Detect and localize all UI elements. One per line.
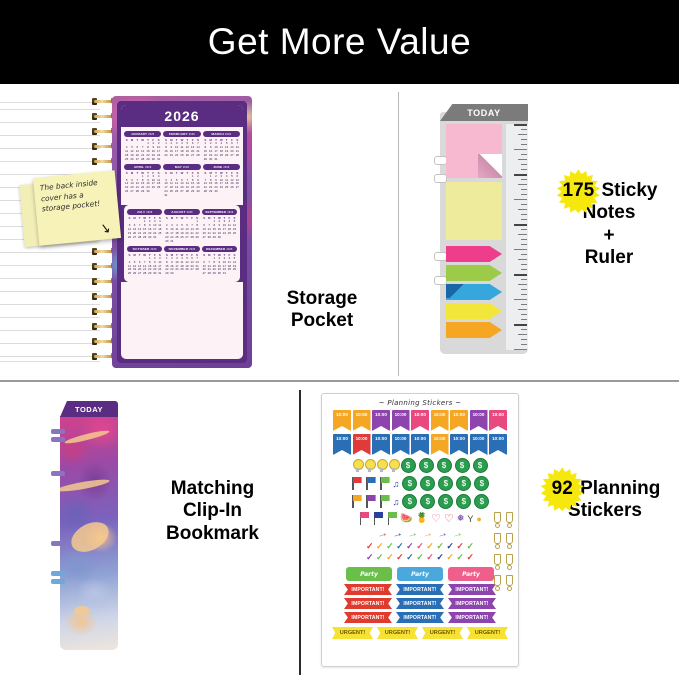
paper-line [0,330,100,331]
exclamation-pair [493,512,512,527]
paper-line [0,148,100,149]
pennant-flag-icon [365,495,376,508]
sticker-arrow-row: →→→→→→ [322,529,518,540]
sticker-time-banner: 10:00 [372,410,390,431]
sticker-important-row-3: IMPORTANT!IMPORTANT!IMPORTANT! [322,612,518,623]
dollar-coin-icon: $ [419,458,434,473]
clip-tab-icon [51,429,65,434]
ruler-tick [521,169,527,170]
exclamation-mark-icon [493,533,500,548]
calendar-month-name: OCTOBER 2026 [127,246,162,252]
sticker-banner-row-1: 10:0010:0010:0010:0010:0010:0010:0010:00… [322,410,518,431]
panel-storage-pocket: 2026 JANUARY 2026SMTWTFS1234567891011121… [0,88,398,378]
calendar-month: SEPTEMBER 2026SMTWTFS1234567891011121314… [202,209,237,244]
checkmark-icon: ✓ [376,542,384,551]
sticker-exclamation-column [493,512,512,590]
binder-ring-icon [434,276,447,285]
calendar-month-name: FEBRUARY 2026 [163,131,200,137]
exclamation-mark-icon [505,533,512,548]
lightbulb-icon [377,459,386,472]
sticker-time-label: 10:00 [434,412,446,431]
calendar-month: JANUARY 2026SMTWTFS123456789101112131415… [124,131,161,162]
calendar-days: 1234567891011121314151617181920212223242… [127,257,162,277]
pineapple-icon: 🍍 [416,513,428,524]
clip-tab-icon [51,541,65,546]
flag-corner-icon [446,284,464,298]
bookmark-marble-design [60,416,118,650]
dollar-coin-icon: $ [455,458,470,473]
paper-line [0,343,100,344]
lightbulb-icon [365,459,374,472]
sticker-sheet-title: ~ Planning Stickers ~ [322,394,518,407]
dollar-coin-icon: $ [402,494,417,509]
horizontal-divider [0,380,679,382]
sticker-flag-coin-row-2: ♫$$$$$ [322,476,518,491]
calendar-months-top: JANUARY 2026SMTWTFS123456789101112131415… [121,127,243,202]
calendar-month-name: SEPTEMBER 2026 [202,209,237,215]
calendar-card: 2026 JANUARY 2026SMTWTFS1234567891011121… [121,105,243,359]
checkmark-icon: ✓ [456,542,464,551]
sticky-note-callout: The back inside cover has a storage pock… [22,174,118,248]
important-label: IMPORTANT! [344,598,392,609]
calendar-year-header: 2026 [121,105,243,127]
curved-arrow-icon: → [391,528,405,542]
ruler-tick [514,199,527,200]
curved-arrow-icon: → [436,528,450,542]
party-label: Party [346,567,392,581]
sticker-party-row: PartyPartyParty [322,567,518,581]
checkmark-icon: ✓ [416,553,424,562]
ruler-tick [521,314,527,315]
sticker-important-row-2: IMPORTANT!IMPORTANT!IMPORTANT! [322,598,518,609]
ruler-tick [514,349,527,350]
caption-line-1: Matching [130,478,295,500]
marble-vein [60,477,110,493]
calendar-month-name: AUGUST 2026 [164,209,199,215]
planner-cover: 2026 JANUARY 2026SMTWTFS1234567891011121… [112,96,252,368]
calendar-days: 1234567891011121314151617181920212223242… [203,142,240,162]
marble-vein [64,429,110,446]
curved-arrow-icon: → [451,528,465,542]
caption-sticky-notes: 175 Sticky Notes + Ruler [539,180,679,270]
calendar-month-name: MARCH 2026 [203,131,240,137]
calendar-month: FEBRUARY 2026SMTWTFS12345678910111213141… [163,131,200,162]
caption-line-1: 92 Planning [525,478,679,500]
calendar-month-name: JANUARY 2026 [124,131,161,137]
calendar-days: 1234567891011121314151617181920212223242… [163,175,200,199]
ruler-tick [521,289,527,290]
paper-line [0,109,100,110]
checkmark-icon: ✓ [466,542,474,551]
party-label: Party [397,567,443,581]
dollar-coin-icon: $ [437,458,452,473]
pennant-flag-icon [351,477,362,490]
ruler-tick [521,279,527,280]
bookmark-today-tab: TODAY [60,401,118,417]
important-label: IMPORTANT! [448,598,496,609]
checkmark-icon: ✓ [366,542,374,551]
sticker-check-row-1: ✓✓✓✓✓✓✓✓✓✓✓ [322,542,518,551]
paper-line [0,122,100,123]
paper-line [0,265,100,266]
ruler-tick [518,284,527,285]
ruler-tick [514,149,527,150]
important-label: IMPORTANT! [344,584,392,595]
ruler-tick [521,144,527,145]
dollar-coin-icon: $ [473,458,488,473]
curved-arrow-icon: → [376,528,390,542]
ruler-tick [521,244,527,245]
exclamation-pair [493,554,512,569]
ruler-tick [521,339,527,340]
calendar-month-name: APRIL 2026 [124,164,161,170]
important-label: IMPORTANT! [344,612,392,623]
ruler-tick [514,224,527,226]
page-title: Get More Value [208,21,471,63]
calendar-days: 1234567891011121314151617181920212223242… [164,257,199,277]
calendar-month: NOVEMBER 2026SMTWTFS12345678910111213141… [164,246,199,277]
caption-line-3: + [539,225,679,247]
sticker-check-row-2: ✓✓✓✓✓✓✓✓✓✓✓ [322,553,518,562]
snowflake-icon: ❅ [457,513,465,524]
sticker-time-banner: 10:00 [431,410,449,431]
dollar-coin-icon: $ [474,476,489,491]
ruler-tick [518,334,527,335]
sticker-time-label: 10:00 [492,436,504,455]
urgent-label: URGENT! [467,627,508,639]
sticker-time-label: 10:00 [395,412,407,431]
calendar-days: 1234567891011121314151617181920212223242… [202,220,237,240]
ruler-tick [521,219,527,220]
ruler-tick [521,294,527,295]
caption-line-1: 175 Sticky [539,180,679,202]
calendar-month-name: JULY 2026 [127,209,162,215]
calendar-days: 1234567891011121314151617181920212223242… [163,142,200,158]
urgent-label: URGENT! [422,627,463,639]
music-note-icon: ♫ [393,479,400,489]
calendar-days: 1234567891011121314151617181920212223242… [203,175,240,195]
important-label: IMPORTANT! [396,598,444,609]
ruler-tick [521,179,527,180]
ruler-tick [521,319,527,320]
ruler-tick [521,204,527,205]
exclamation-mark-icon [505,575,512,590]
sticker-sheet: ~ Planning Stickers ~ 10:0010:0010:0010:… [321,393,519,667]
dollar-coin-icon: $ [420,494,435,509]
clip-in-bookmark: TODAY [60,401,118,651]
sticker-time-banner: 10:00 [333,410,351,431]
sticker-time-banner: 10:00 [489,410,507,431]
calendar-month-name: JUNE 2026 [203,164,240,170]
ruler-tick [521,194,527,195]
exclamation-mark-icon [493,575,500,590]
calendar-days: 1234567891011121314151617181920212223242… [124,175,161,195]
gold-coin-icon: ● [476,514,481,524]
dollar-coin-icon: $ [438,494,453,509]
calendar-lower-block: JULY 2026SMTWTFS123456789101112131415161… [121,205,243,282]
paper-line [0,252,100,253]
ruler-tick [521,129,527,130]
dollar-coin-icon: $ [456,494,471,509]
calendar-days: 1234567891011121314151617181920212223242… [164,220,199,244]
sticker-time-label: 10:00 [336,436,348,455]
sticker-time-banner: 10:00 [333,434,351,455]
sticker-time-label: 10:00 [356,412,368,431]
sticky-pad-pink [446,124,502,178]
pennant-flag-icon [351,495,362,508]
calendar-year-label: 2026 [164,108,199,124]
checkmark-icon: ✓ [426,553,434,562]
sticker-time-banner: 10:00 [470,434,488,455]
ruler-tick [514,174,527,176]
ruler-today-tab: TODAY [440,104,528,121]
ruler-tick [521,139,527,140]
sticker-flag-coin-row-3: ♫$$$$$ [322,494,518,509]
ruler-tick [521,154,527,155]
sticker-time-label: 10:00 [434,436,446,455]
binder-ring-icon [434,252,447,261]
calendar-days: 1234567891011121314151617181920212223242… [124,142,161,162]
ruler-tick [518,184,527,185]
ruler-tick [514,124,527,126]
sticker-banner-row-2: 10:0010:0010:0010:0010:0010:0010:0010:00… [322,434,518,455]
sticky-note-front: The back inside cover has a storage pock… [33,170,121,246]
heart-pink-icon: ♡ [431,512,441,525]
caption-line-2: Pocket [252,310,392,332]
pennant-flag-icon [365,477,376,490]
caption-storage-pocket: Storage Pocket [252,288,392,333]
checkmark-icon: ✓ [436,553,444,562]
calendar-card-lower: JULY 2026SMTWTFS123456789101112131415161… [124,205,240,282]
checkmark-icon: ✓ [386,553,394,562]
count-badge-92: 92 [550,478,575,500]
clip-tab-icon [51,471,65,476]
lightbulb-icon [389,459,398,472]
sticker-time-label: 10:00 [375,436,387,455]
ruler-tick [521,189,527,190]
ruler-scale [506,124,528,350]
sticker-time-label: 10:00 [414,436,426,455]
sticker-time-label: 10:00 [453,436,465,455]
calendar-month-name: MAY 2026 [163,164,200,170]
ruler-tick [514,249,527,250]
sticker-time-label: 10:00 [336,412,348,431]
calendar-month: AUGUST 2026SMTWTFS1234567891011121314151… [164,209,199,244]
checkmark-icon: ✓ [446,542,454,551]
dollar-coin-icon: $ [438,476,453,491]
sticker-time-banner: 10:00 [450,410,468,431]
pennant-flag-icon [379,495,390,508]
sticky-note-text: The back inside cover has a storage pock… [39,177,112,216]
checkmark-icon: ✓ [416,542,424,551]
pennant-flag-icon [386,512,397,525]
ruler-tick [521,344,527,345]
page-curl-icon [478,154,502,178]
dollar-coin-icon: $ [420,476,435,491]
checkmark-icon: ✓ [376,553,384,562]
sticker-time-label: 10:00 [395,436,407,455]
sticker-time-label: 10:00 [492,412,504,431]
calendar-month: MARCH 2026SMTWTFS12345678910111213141516… [203,131,240,162]
sticker-urgent-row: URGENT!URGENT!URGENT!URGENT! [322,627,518,639]
checkmark-icon: ✓ [456,553,464,562]
exclamation-mark-icon [505,512,512,527]
ruler-tick [521,269,527,270]
curved-arrow-icon: → [406,528,420,542]
checkmark-icon: ✓ [366,553,374,562]
cocktail-icon: Y [467,514,473,524]
paper-line [0,356,100,357]
paper-line [0,291,100,292]
ruler-tick [521,229,527,230]
checkmark-icon: ✓ [396,553,404,562]
checkmark-icon: ✓ [426,542,434,551]
ruler-tick [514,299,527,300]
marble-vein [74,606,90,616]
checkmark-icon: ✓ [466,553,474,562]
heart-red-icon: ♡ [444,512,454,525]
count-badge-175: 175 [561,180,597,202]
caption-bookmark: Matching Clip-In Bookmark [130,478,295,545]
calendar-days: 1234567891011121314151617181920212223242… [127,220,162,240]
urgent-label: URGENT! [332,627,373,639]
sticker-time-banner: 10:00 [470,410,488,431]
calendar-month: DECEMBER 2026SMTWTFS12345678910111213141… [202,246,237,277]
sticker-time-banner: 10:00 [489,434,507,455]
dollar-coin-icon: $ [402,476,417,491]
caption-line-1: Storage [252,288,392,310]
caption-word-sticky: Sticky [602,180,658,201]
checkmark-icon: ✓ [436,542,444,551]
curved-arrow-icon: → [421,528,435,542]
paper-line [0,135,100,136]
sticker-time-banner: 10:00 [431,434,449,455]
paper-line [0,304,100,305]
checkmark-icon: ✓ [406,553,414,562]
dollar-coin-icon: $ [474,494,489,509]
ruler-bookmark: TODAY [434,104,528,354]
caption-line-2: Notes [539,202,679,224]
clip-tab-icon [51,571,65,576]
ruler-tab-label: TODAY [467,108,501,118]
panel-sticky-notes-ruler: TODAY 175 Sticky Notes [399,88,679,378]
ruler-tick [521,329,527,330]
pennant-flag-icon [379,477,390,490]
calendar-month-name: DECEMBER 2026 [202,246,237,252]
sticker-bulb-coin-row-1: $$$$$ [322,458,518,473]
ruler-tick [518,259,527,260]
caption-line-2: Stickers [525,500,679,522]
ruler-tick [518,234,527,235]
sticker-time-label: 10:00 [356,436,368,455]
important-label: IMPORTANT! [396,584,444,595]
checkmark-icon: ✓ [406,542,414,551]
ruler-tick [521,239,527,240]
ruler-tick [521,214,527,215]
paper-line [0,317,100,318]
pennant-flag-icon [372,512,383,525]
planner-inner-page: 2026 JANUARY 2026SMTWTFS1234567891011121… [117,101,247,363]
caption-planning-stickers: 92 Planning Stickers [525,478,679,523]
clip-tab-icon [51,579,65,584]
ruler-tick [514,274,527,276]
exclamation-pair [493,575,512,590]
sticker-time-banner: 10:00 [353,410,371,431]
checkmark-icon: ✓ [446,553,454,562]
party-label: Party [448,567,494,581]
checkmark-icon: ✓ [396,542,404,551]
sticker-time-banner: 10:00 [372,434,390,455]
ruler-tick [518,209,527,210]
ruler-tick [521,264,527,265]
calendar-month: OCTOBER 2026SMTWTFS123456789101112131415… [127,246,162,277]
caption-line-3: Bookmark [130,523,295,545]
sticker-time-banner: 10:00 [392,410,410,431]
ruler-tick [518,134,527,135]
header-banner: Get More Value [0,0,679,84]
exclamation-mark-icon [493,554,500,569]
sticker-misc-row: 🍉🍍♡♡❅Y● [322,512,518,525]
lightbulb-icon [353,459,362,472]
ruler-tick [518,159,527,160]
sticker-time-banner: 10:00 [353,434,371,455]
exclamation-mark-icon [493,512,500,527]
down-right-arrow-icon: ↘ [99,220,112,237]
sticker-time-banner: 10:00 [450,434,468,455]
calendar-month: MAY 2026SMTWTFS1234567891011121314151617… [163,164,200,199]
sticker-important-row-1: IMPORTANT!IMPORTANT!IMPORTANT! [322,584,518,595]
paper-line [0,278,100,279]
important-label: IMPORTANT! [448,612,496,623]
sticker-time-label: 10:00 [473,436,485,455]
clip-tab-icon [51,437,65,442]
pennant-flag-icon [358,512,369,525]
calendar-month: JULY 2026SMTWTFS123456789101112131415161… [127,209,162,244]
calendar-month: APRIL 2026SMTWTFS12345678910111213141516… [124,164,161,199]
checkmark-icon: ✓ [386,542,394,551]
ruler-tick [521,164,527,165]
sticker-time-label: 10:00 [375,412,387,431]
panel-planning-stickers: ~ Planning Stickers ~ 10:0010:0010:0010:… [301,383,679,678]
exclamation-pair [493,533,512,548]
sticker-time-banner: 10:00 [411,434,429,455]
infographic-page: Get More Value 2026 JANUARY 2026SMTWTFS1… [0,0,679,678]
ruler-tick [521,304,527,305]
sticky-pad-yellow [446,182,502,240]
calendar-month: JUNE 2026SMTWTFS123456789101112131415161… [203,164,240,199]
dollar-coin-icon: $ [401,458,416,473]
ruler-tick [514,324,527,326]
bookmark-tab-label: TODAY [75,405,103,414]
sticker-time-label: 10:00 [473,412,485,431]
ruler-tick [518,309,527,310]
sticker-time-banner: 10:00 [411,410,429,431]
dollar-coin-icon: $ [456,476,471,491]
panel-clip-in-bookmark: TODAY Matching Clip-In Bookmark [0,383,299,678]
sticker-time-label: 10:00 [414,412,426,431]
caption-word-planning: Planning [580,478,660,499]
music-note-icon: ♫ [393,497,400,507]
important-label: IMPORTANT! [448,584,496,595]
caption-line-2: Clip-In [130,500,295,522]
watermelon-icon: 🍉 [400,513,412,524]
calendar-days: 1234567891011121314151617181920212223242… [202,257,237,277]
marble-vein [66,516,114,558]
paper-line [0,161,100,162]
caption-line-4: Ruler [539,247,679,269]
ruler-tick [521,254,527,255]
exclamation-mark-icon [505,554,512,569]
